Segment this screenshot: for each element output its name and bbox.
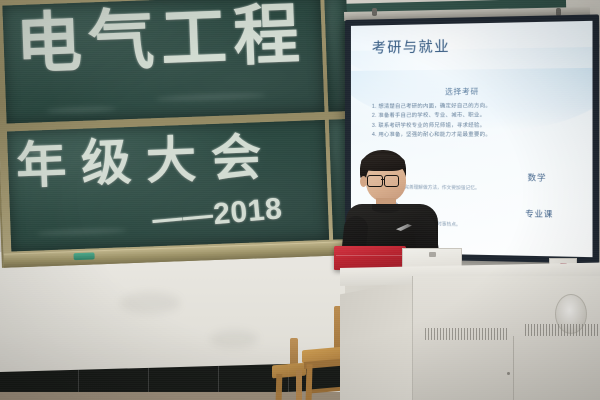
chair-leg bbox=[276, 374, 283, 400]
person-collar bbox=[372, 204, 400, 213]
podium-vent-grille bbox=[525, 324, 600, 336]
slide-bullet-3: 3. 联系考研学校专业的师兄师姐，寻求经验。 bbox=[372, 121, 575, 131]
classroom-photo-scene: 电气工程 年级大会 ——2018 考研与就业 选择考研 1. 想清楚自己考研的内… bbox=[0, 0, 600, 400]
podium-vent-grille bbox=[425, 328, 509, 340]
wall-smudge bbox=[210, 330, 258, 348]
baseboard-seam bbox=[218, 366, 219, 394]
chair-leg bbox=[305, 364, 312, 400]
person-fringe bbox=[361, 154, 405, 171]
glasses-bridge bbox=[381, 179, 385, 180]
podium-cabinet-seam bbox=[513, 336, 514, 400]
slide-subject-math: 数学 bbox=[528, 172, 547, 184]
person-ear bbox=[360, 176, 367, 187]
case-seam bbox=[336, 255, 404, 256]
wall-smudge bbox=[120, 292, 180, 314]
slide-bullet-list: 1. 想清楚自己考研的内面，确定好自己的方向。 2. 准备着手自己的学校、专业、… bbox=[372, 101, 575, 140]
glasses-icon bbox=[367, 175, 383, 187]
blackboard-title-line-1: 电气工程 bbox=[15, 3, 308, 80]
glasses-icon bbox=[384, 175, 399, 187]
podium-side-panel bbox=[340, 280, 414, 400]
chalk-swipe bbox=[156, 92, 266, 102]
slide-subject-major: 专业课 bbox=[525, 208, 553, 220]
chalk-swipe bbox=[37, 227, 127, 236]
slide-bullet-2: 2. 准备着手自己的学校、专业、城市、职业。 bbox=[372, 111, 575, 121]
lecture-podium[interactable] bbox=[340, 268, 600, 400]
slide-bullet-4: 4. 用心准备，坚强的耐心和能力才是最重要的。 bbox=[372, 131, 575, 141]
podium-front-panel bbox=[412, 276, 600, 400]
ceiling-hook-icon bbox=[372, 8, 377, 16]
slide-title: 考研与就业 bbox=[372, 36, 450, 58]
podium-cabinet-knob[interactable] bbox=[507, 372, 510, 375]
chalk-eraser[interactable] bbox=[73, 252, 94, 260]
chalk-swipe bbox=[46, 106, 116, 115]
blackboard-title-line-2: 年级大会 bbox=[15, 132, 277, 191]
blackboard: 电气工程 年级大会 ——2018 bbox=[0, 0, 354, 268]
slide-subheading: 选择考研 bbox=[445, 86, 479, 98]
box-latch-icon bbox=[429, 252, 436, 257]
